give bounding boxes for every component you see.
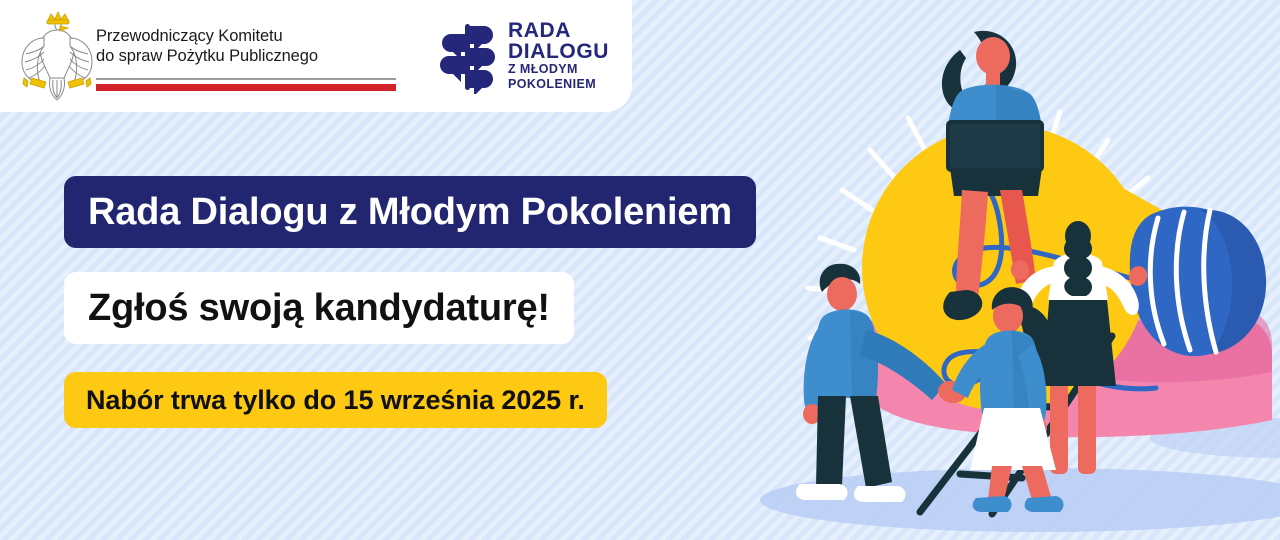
gov-title-line-1: Przewodniczący Komitetu	[96, 26, 406, 46]
rada-dialogu-logo: RADA DIALOGU Z MŁODYM POKOLENIEM	[430, 16, 610, 96]
deadline-pill: Nabór trwa tylko do 15 września 2025 r.	[64, 372, 607, 428]
promo-banner: Przewodniczący Komitetu do spraw Pożytku…	[0, 0, 1280, 540]
title-text: Rada Dialogu z Młodym Pokoleniem	[88, 191, 732, 234]
lightbulb-screw-base-icon	[1130, 207, 1266, 356]
logo-line-z-mlodym: Z MŁODYM	[508, 62, 609, 77]
gov-rule-grey	[96, 78, 396, 80]
logo-line-pokoleniem: POKOLENIEM	[508, 77, 609, 92]
polish-eagle-emblem-icon	[14, 8, 100, 104]
title-pill: Rada Dialogu z Młodym Pokoleniem	[64, 176, 756, 248]
gov-title-line-2: do spraw Pożytku Publicznego	[96, 46, 406, 66]
rada-dialogu-speech-bubble-plant-icon	[430, 18, 506, 94]
logo-line-dialogu: DIALOGU	[508, 41, 609, 62]
rada-dialogu-wordmark: RADA DIALOGU Z MŁODYM POKOLENIEM	[508, 20, 609, 92]
header-panel: Przewodniczący Komitetu do spraw Pożytku…	[0, 0, 632, 112]
deadline-text: Nabór trwa tylko do 15 września 2025 r.	[86, 385, 585, 416]
lightbulb-teamwork-illustration	[760, 0, 1280, 540]
cta-text: Zgłoś swoją kandydaturę!	[88, 287, 550, 330]
gov-title: Przewodniczący Komitetu do spraw Pożytku…	[96, 26, 406, 66]
gov-rule-red	[96, 84, 396, 91]
cta-pill: Zgłoś swoją kandydaturę!	[64, 272, 574, 344]
logo-line-rada: RADA	[508, 20, 609, 41]
